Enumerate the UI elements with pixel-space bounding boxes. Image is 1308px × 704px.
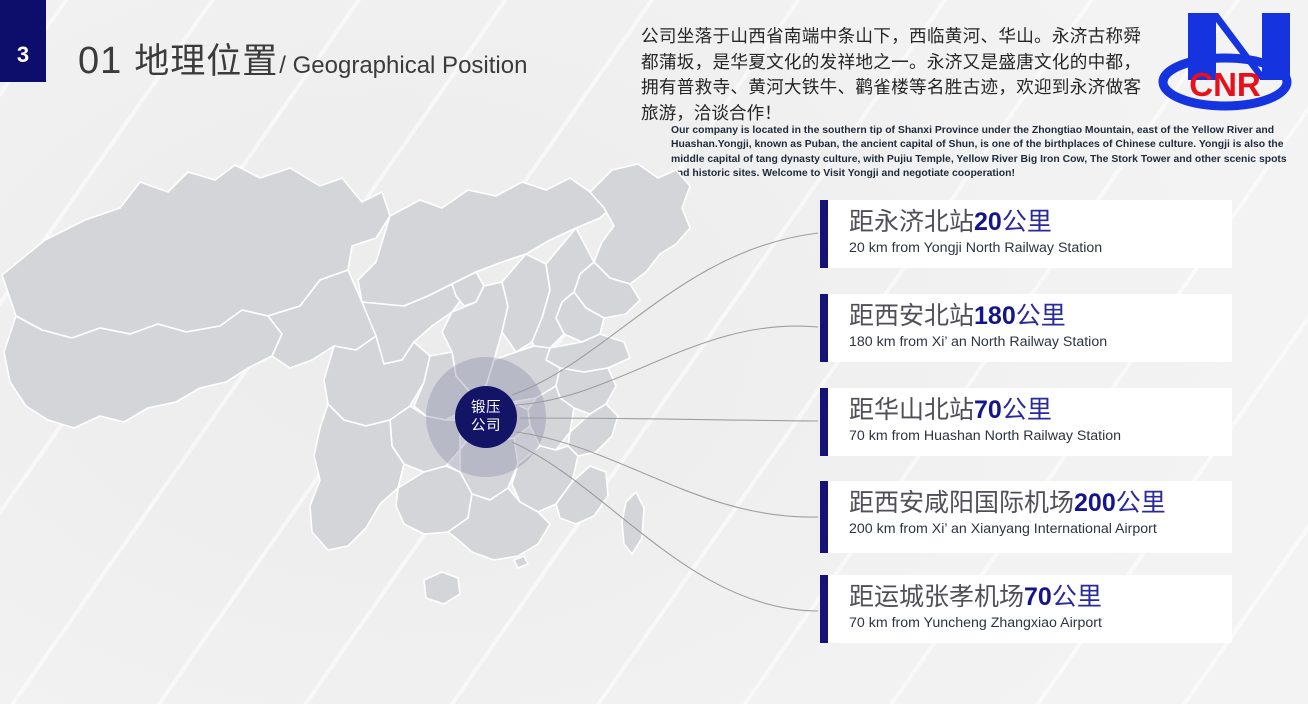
info-card[interactable]: 距西安咸阳国际机场200公里 200 km from Xi’ an Xianya…: [820, 481, 1232, 553]
card-title-value: 200: [1074, 489, 1116, 517]
card-title-prefix: 距运城张孝机场: [849, 583, 1024, 611]
card-title: 距华山北站70公里: [849, 395, 1222, 425]
card-title-unit: 公里: [1002, 208, 1052, 236]
card-title-value: 70: [974, 396, 1002, 424]
card-subtitle: 70 km from Yuncheng Zhangxiao Airport: [849, 614, 1222, 633]
slide-canvas: 3 01 地理位置 / Geographical Position 公司坐落于山…: [0, 0, 1308, 704]
card-accent-bar: [820, 575, 828, 643]
card-body: 距西安北站180公里 180 km from Xi’ an North Rail…: [828, 294, 1232, 362]
card-title-prefix: 距西安北站: [849, 302, 974, 330]
section-title-cn: 地理位置: [134, 33, 278, 84]
info-card[interactable]: 距运城张孝机场70公里 70 km from Yuncheng Zhangxia…: [820, 575, 1232, 643]
card-body: 距西安咸阳国际机场200公里 200 km from Xi’ an Xianya…: [828, 481, 1232, 553]
company-marker[interactable]: 锻压 公司: [455, 386, 517, 448]
card-body: 距华山北站70公里 70 km from Huashan North Railw…: [828, 388, 1232, 456]
page-number-badge: 3: [0, 0, 46, 82]
info-card[interactable]: 距西安北站180公里 180 km from Xi’ an North Rail…: [820, 294, 1232, 362]
card-title-value: 20: [974, 208, 1002, 236]
card-subtitle: 20 km from Yongji North Railway Station: [849, 239, 1222, 258]
card-title-prefix: 距永济北站: [849, 208, 974, 236]
info-card[interactable]: 距永济北站20公里 20 km from Yongji North Railwa…: [820, 200, 1232, 268]
card-title: 距西安咸阳国际机场200公里: [849, 488, 1222, 518]
cnr-logo: CNR: [1152, 8, 1298, 112]
card-title-unit: 公里: [1116, 489, 1166, 517]
card-subtitle: 200 km from Xi’ an Xianyang Internationa…: [849, 520, 1222, 539]
intro-paragraph-english: Our company is located in the southern t…: [671, 124, 1307, 182]
page-number-text: 3: [17, 42, 29, 68]
card-subtitle: 180 km from Xi’ an North Railway Station: [849, 333, 1222, 352]
card-accent-bar: [820, 481, 828, 553]
card-title: 距运城张孝机场70公里: [849, 582, 1222, 612]
card-title: 距永济北站20公里: [849, 207, 1222, 237]
section-number: 01: [78, 40, 122, 83]
marker-label-line2: 公司: [471, 417, 501, 435]
cnr-logo-wordmark: CNR: [1189, 66, 1261, 103]
card-accent-bar: [820, 294, 828, 362]
info-card[interactable]: 距华山北站70公里 70 km from Huashan North Railw…: [820, 388, 1232, 456]
card-subtitle: 70 km from Huashan North Railway Station: [849, 427, 1222, 446]
card-title-value: 180: [974, 302, 1016, 330]
card-title: 距西安北站180公里: [849, 301, 1222, 331]
card-title-unit: 公里: [1002, 396, 1052, 424]
card-accent-bar: [820, 388, 828, 456]
card-title-prefix: 距西安咸阳国际机场: [849, 489, 1074, 517]
card-title-value: 70: [1024, 583, 1052, 611]
section-title-en: / Geographical Position: [279, 52, 527, 80]
card-title-prefix: 距华山北站: [849, 396, 974, 424]
card-title-unit: 公里: [1052, 583, 1102, 611]
intro-paragraph-chinese: 公司坐落于山西省南端中条山下，西临黄河、华山。永济古称舜都蒲坂，是华夏文化的发祥…: [641, 25, 1141, 127]
card-body: 距运城张孝机场70公里 70 km from Yuncheng Zhangxia…: [828, 575, 1232, 643]
card-accent-bar: [820, 200, 828, 268]
china-map: [0, 120, 750, 700]
marker-label-line1: 锻压: [471, 399, 501, 417]
page-title: 01 地理位置 / Geographical Position: [78, 33, 527, 84]
card-body: 距永济北站20公里 20 km from Yongji North Railwa…: [828, 200, 1232, 268]
card-title-unit: 公里: [1016, 302, 1066, 330]
